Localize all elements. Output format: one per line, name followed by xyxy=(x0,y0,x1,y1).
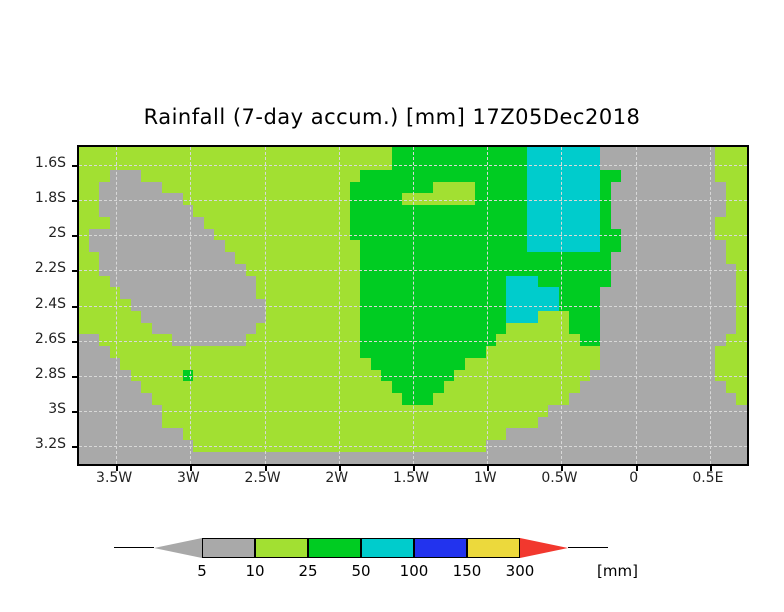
x-tick-label: 1.5W xyxy=(393,470,429,486)
colorbar-tick-label: 50 xyxy=(351,562,370,580)
colorbar-arrow-high xyxy=(520,538,568,558)
y-tick-label: 3.2S xyxy=(35,436,66,452)
y-tick-mark xyxy=(72,411,79,413)
gridline-horizontal xyxy=(79,446,747,447)
colorbar-tick-label: 300 xyxy=(506,562,535,580)
y-tick-mark xyxy=(72,165,79,167)
y-tick-mark xyxy=(72,446,79,448)
gridline-horizontal xyxy=(79,411,747,412)
colorbar-tick-label: 150 xyxy=(453,562,482,580)
y-tick-mark xyxy=(72,200,79,202)
gridline-horizontal xyxy=(79,306,747,307)
colorbar-tick-label: 25 xyxy=(298,562,317,580)
x-tick-label: 0.5E xyxy=(692,470,723,486)
colorbar: [mm] 5102550100150300 xyxy=(0,528,784,588)
x-tick-label: 0.5W xyxy=(541,470,577,486)
y-tick-label: 1.6S xyxy=(35,155,66,171)
y-tick-label: 2.4S xyxy=(35,296,66,312)
x-tick-label: 0 xyxy=(629,470,638,486)
x-tick-label: 1W xyxy=(474,470,497,486)
heatmap-canvas xyxy=(79,147,747,464)
y-axis-labels: 1.6S1.8S2S2.2S2.4S2.6S2.8S3S3.2S xyxy=(0,145,70,462)
colorbar-segment xyxy=(202,538,255,558)
y-tick-mark xyxy=(72,235,79,237)
gridline-horizontal xyxy=(79,341,747,342)
rainfall-map-figure: Rainfall (7-day accum.) [mm] 17Z05Dec201… xyxy=(0,0,784,612)
colorbar-segment xyxy=(467,538,520,558)
chart-title: Rainfall (7-day accum.) [mm] 17Z05Dec201… xyxy=(0,105,784,129)
colorbar-segment xyxy=(308,538,361,558)
x-tick-label: 3W xyxy=(177,470,200,486)
colorbar-tick-label: 10 xyxy=(245,562,264,580)
x-tick-label: 2W xyxy=(325,470,348,486)
plot-area xyxy=(77,145,749,466)
y-tick-mark xyxy=(72,270,79,272)
colorbar-needle-low xyxy=(114,547,154,548)
colorbar-segment xyxy=(414,538,467,558)
y-tick-mark xyxy=(72,306,79,308)
y-tick-label: 2.8S xyxy=(35,366,66,382)
y-tick-mark xyxy=(72,376,79,378)
gridline-horizontal xyxy=(79,200,747,201)
gridline-horizontal xyxy=(79,165,747,166)
colorbar-needle-high xyxy=(568,547,608,548)
y-tick-label: 2S xyxy=(48,225,66,241)
gridline-horizontal xyxy=(79,270,747,271)
colorbar-tick-label: 100 xyxy=(400,562,429,580)
y-tick-label: 2.6S xyxy=(35,331,66,347)
y-tick-label: 2.2S xyxy=(35,260,66,276)
x-axis-labels: 3.5W3W2.5W2W1.5W1W0.5W00.5E xyxy=(77,470,745,494)
y-tick-label: 3S xyxy=(48,401,66,417)
y-tick-label: 1.8S xyxy=(35,190,66,206)
colorbar-tick-label: 5 xyxy=(197,562,207,580)
gridline-horizontal xyxy=(79,376,747,377)
x-tick-label: 3.5W xyxy=(96,470,132,486)
y-tick-mark xyxy=(72,341,79,343)
colorbar-strip xyxy=(202,538,520,558)
colorbar-arrow-low xyxy=(154,538,202,558)
colorbar-segment xyxy=(361,538,414,558)
gridline-horizontal xyxy=(79,235,747,236)
colorbar-unit-label: [mm] xyxy=(597,562,638,580)
x-tick-label: 2.5W xyxy=(244,470,280,486)
colorbar-segment xyxy=(255,538,308,558)
